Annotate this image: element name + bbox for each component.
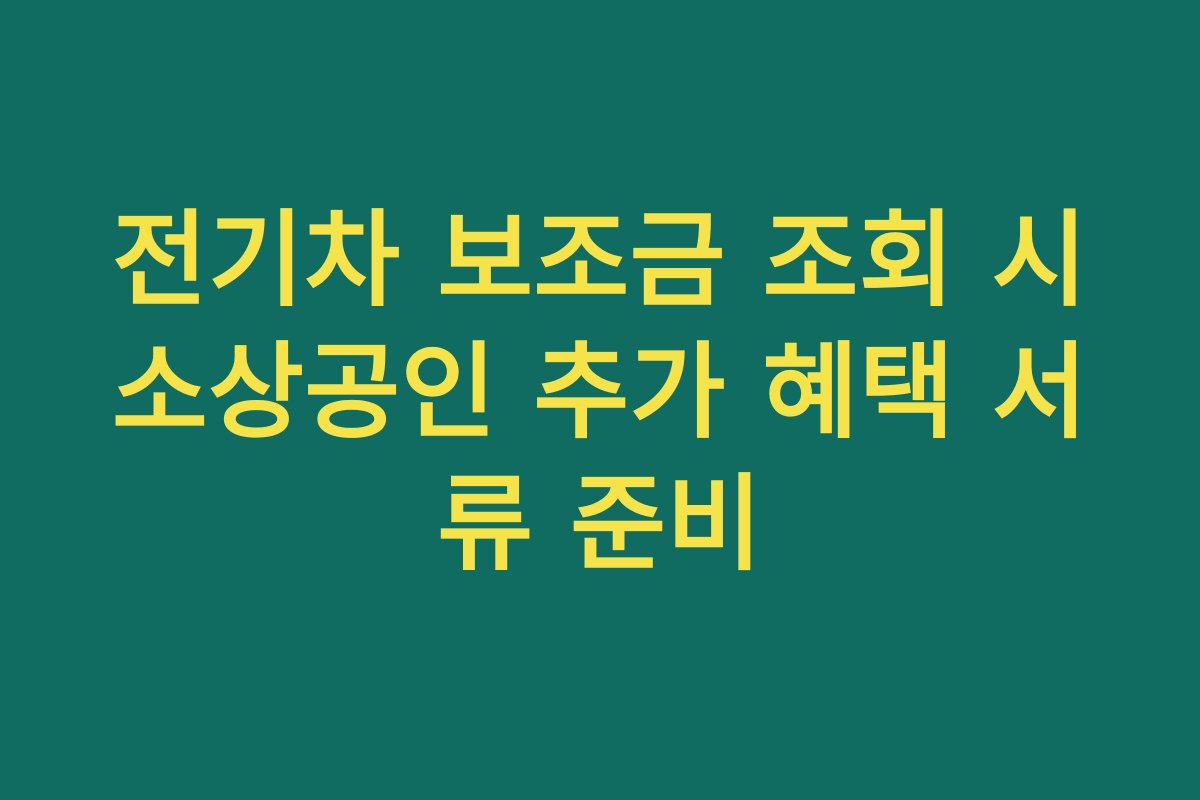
banner-background: 전기차 보조금 조회 시 소상공인 추가 혜택 서 류 준비: [0, 0, 1200, 800]
headline-line-1: 전기차 보조금 조회 시: [100, 194, 1100, 326]
headline-line-3: 류 준비: [100, 458, 1100, 590]
headline-line-2: 소상공인 추가 혜택 서: [100, 326, 1100, 458]
headline-text-block: 전기차 보조금 조회 시 소상공인 추가 혜택 서 류 준비: [100, 194, 1100, 590]
